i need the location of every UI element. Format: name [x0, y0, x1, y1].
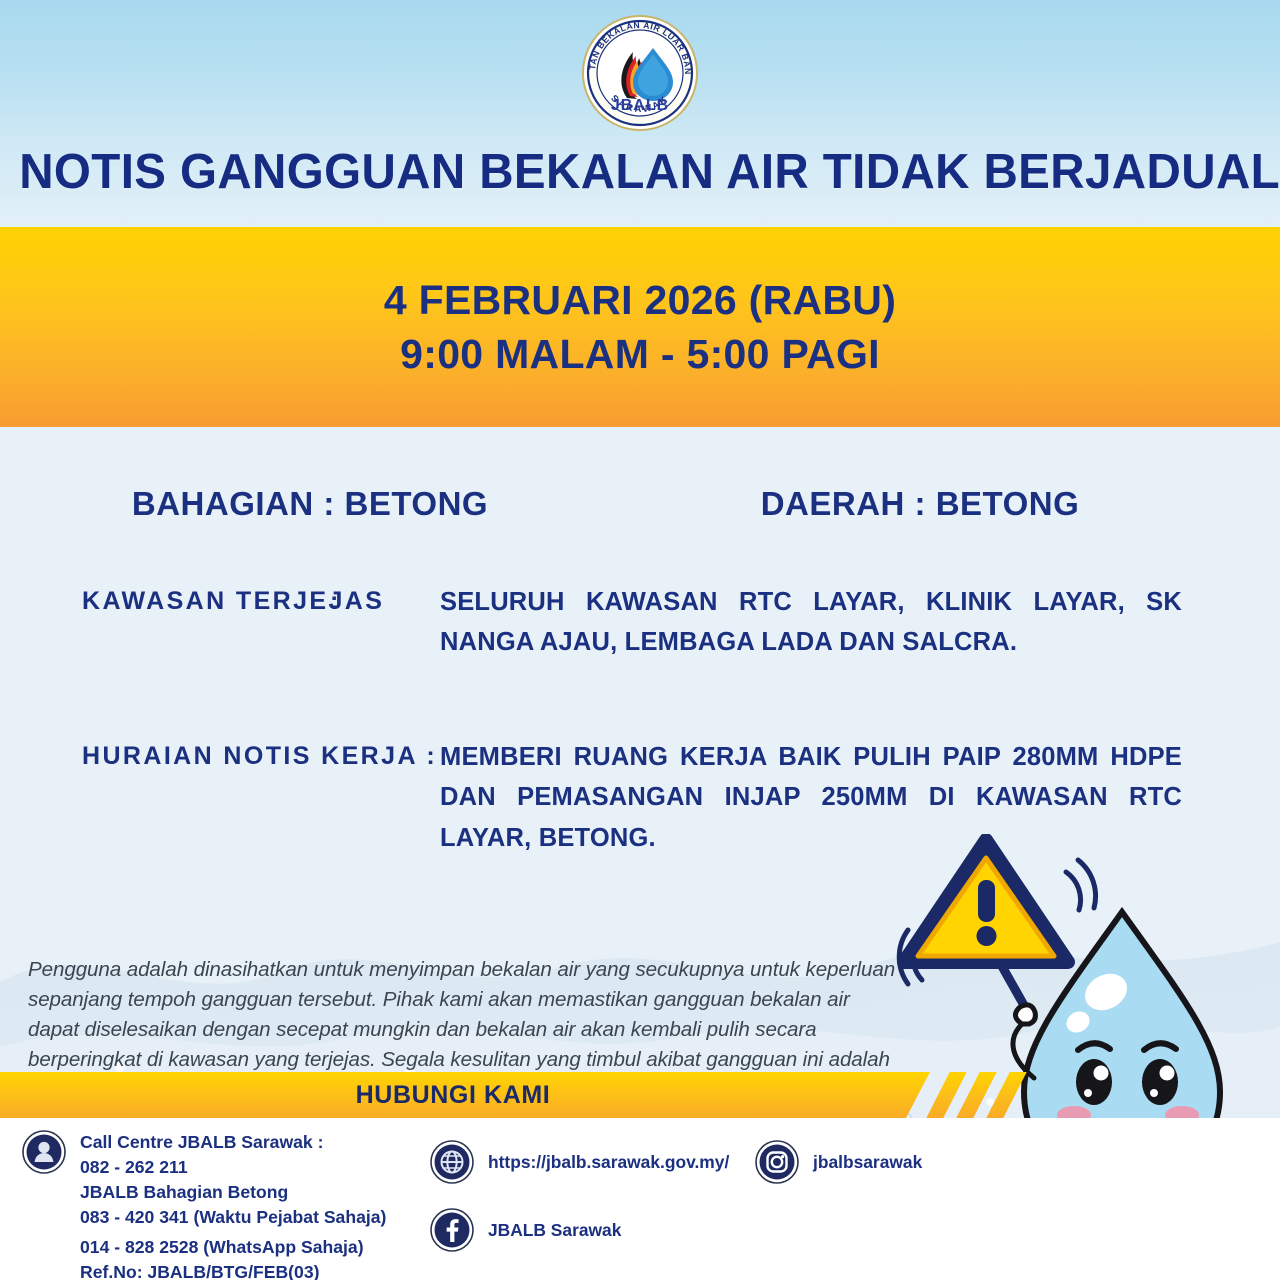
facebook-icon — [430, 1208, 474, 1252]
website-contact[interactable]: https://jbalb.sarawak.gov.my/ — [430, 1140, 729, 1184]
facebook-handle[interactable]: JBALB Sarawak — [488, 1220, 621, 1241]
affected-areas-colon: : — [330, 582, 440, 621]
facebook-contact[interactable]: JBALB Sarawak — [430, 1208, 621, 1252]
affected-areas-label: KAWASAN TERJEJAS — [0, 582, 330, 621]
work-description-value: MEMBERI RUANG KERJA BAIK PULIH PAIP 280M… — [440, 737, 1200, 858]
globe-icon — [430, 1140, 474, 1184]
affected-areas-field: KAWASAN TERJEJAS : SELURUH KAWASAN RTC L… — [0, 582, 1280, 663]
division-office-number[interactable]: 083 - 420 341 (Waktu Pejabat Sahaja) — [80, 1205, 386, 1230]
call-centre-label: Call Centre JBALB Sarawak : — [80, 1130, 386, 1155]
instagram-icon — [755, 1140, 799, 1184]
phone-contact-lines: Call Centre JBALB Sarawak : 082 - 262 21… — [80, 1130, 386, 1280]
region-row: BAHAGIAN : BETONG DAERAH : BETONG — [0, 485, 1280, 523]
advisory-paragraph: Pengguna adalah dinasihatkan untuk menyi… — [28, 955, 906, 1104]
page-title: NOTIS GANGGUAN BEKALAN AIR TIDAK BERJADU… — [19, 144, 1261, 200]
jbalb-logo: JABATAN BEKALAN AIR LUAR BANDAR SARAWAK … — [581, 14, 699, 132]
instagram-contact[interactable]: jbalbsarawak — [755, 1140, 922, 1184]
whatsapp-number[interactable]: 014 - 828 2528 (WhatsApp Sahaja) — [80, 1235, 386, 1260]
notice-time: 9:00 MALAM - 5:00 PAGI — [400, 329, 880, 379]
work-description-label: HURAIAN NOTIS KERJA : — [0, 737, 330, 776]
notice-date: 4 FEBRUARI 2026 (RABU) — [384, 275, 896, 325]
contact-details: Call Centre JBALB Sarawak : 082 - 262 21… — [0, 1118, 1280, 1280]
district-cell: DAERAH : BETONG — [620, 485, 1260, 523]
affected-areas-value: SELURUH KAWASAN RTC LAYAR, KLINIK LAYAR,… — [440, 582, 1200, 663]
website-url[interactable]: https://jbalb.sarawak.gov.my/ — [488, 1152, 729, 1173]
water-disruption-notice-poster: JABATAN BEKALAN AIR LUAR BANDAR SARAWAK … — [0, 0, 1280, 1280]
jbalb-logo-svg: JABATAN BEKALAN AIR LUAR BANDAR SARAWAK … — [581, 14, 699, 132]
instagram-handle[interactable]: jbalbsarawak — [813, 1152, 922, 1173]
logo-wordmark: JBALB — [611, 97, 669, 114]
date-time-banner: 4 FEBRUARI 2026 (RABU) 9:00 MALAM - 5:00… — [0, 227, 1280, 427]
division-office-label: JBALB Bahagian Betong — [80, 1180, 386, 1205]
person-icon — [22, 1130, 66, 1174]
division-text: BAHAGIAN : BETONG — [132, 485, 488, 522]
work-description-field: HURAIAN NOTIS KERJA : MEMBERI RUANG KERJ… — [0, 737, 1280, 858]
division-cell: BAHAGIAN : BETONG — [0, 485, 620, 523]
phone-contact-block: Call Centre JBALB Sarawak : 082 - 262 21… — [22, 1130, 386, 1280]
reference-number: Ref.No: JBALB/BTG/FEB(03) — [80, 1260, 386, 1280]
call-centre-number[interactable]: 082 - 262 211 — [80, 1155, 386, 1180]
poster-header: JABATAN BEKALAN AIR LUAR BANDAR SARAWAK … — [0, 0, 1280, 227]
district-text: DAERAH : BETONG — [761, 485, 1080, 522]
